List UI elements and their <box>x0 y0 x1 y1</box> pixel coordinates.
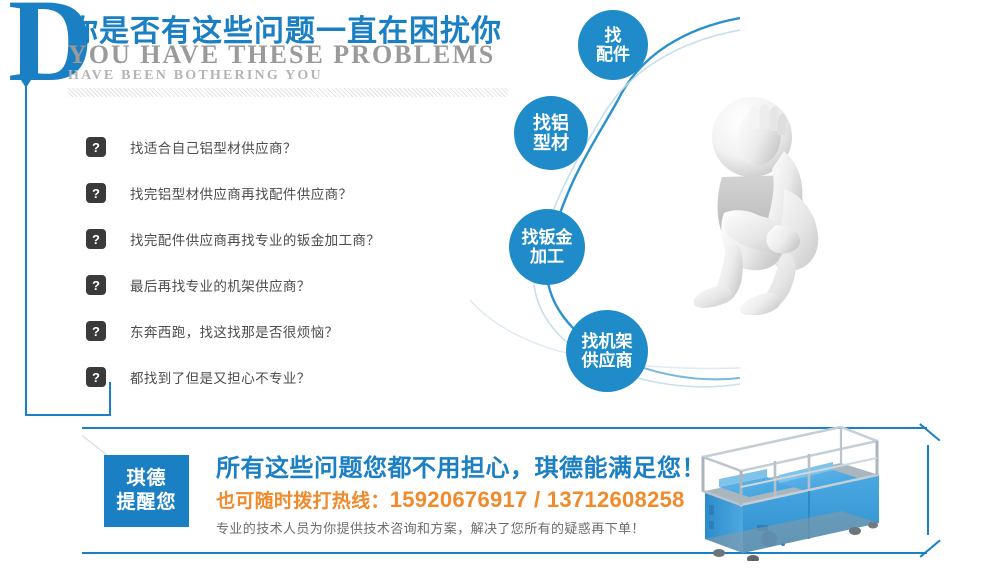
subtitle-english-line2: HAVE BEEN BOTHERING YOU <box>68 68 323 84</box>
flow-node-label: 找配件 <box>596 26 630 64</box>
list-item: ?都找到了但是又担心不专业？ <box>86 354 486 400</box>
flow-node-label-line2: 型材 <box>533 133 569 153</box>
banner-corner-left-slash <box>82 435 109 457</box>
problem-text: 找完配件供应商再找专业的钣金加工商？ <box>130 229 380 249</box>
question-mark-icon: ? <box>86 183 106 203</box>
bracket-vertical-line <box>25 86 27 416</box>
flow-node-2: 找铝型材 <box>514 96 588 170</box>
flow-node-3: 找钣金加工 <box>509 209 585 285</box>
list-item: ?最后再找专业的机架供应商？ <box>86 262 486 308</box>
hotline-label: 也可随时拨打热线： <box>216 491 390 512</box>
product-machine-image <box>683 413 918 561</box>
question-mark-icon: ? <box>86 137 106 157</box>
flow-node-label-line1: 找机架 <box>582 332 633 351</box>
flow-node-label-line2: 供应商 <box>582 351 633 370</box>
problem-text: 都找到了但是又担心不专业？ <box>130 367 311 387</box>
banner-border-right <box>927 445 929 535</box>
flow-node-label: 找钣金加工 <box>522 228 573 266</box>
banner-headline: 所有这些问题您都不用担心，琪德能满足您！ <box>216 448 706 483</box>
flow-node-label-line1: 找 <box>596 26 630 45</box>
flow-node-label-line2: 配件 <box>596 45 630 64</box>
flow-node-label-line1: 找铝 <box>533 113 569 133</box>
problem-text: 最后再找专业的机架供应商？ <box>130 275 311 295</box>
banner-corner-top-right <box>920 423 941 441</box>
bracket-horizontal-line <box>25 414 111 416</box>
hotline-numbers: 15920676917 / 13712608258 <box>390 487 685 512</box>
list-item: ?找完铝型材供应商再找配件供应商？ <box>86 170 486 216</box>
problem-list: ?找适合自己铝型材供应商？?找完铝型材供应商再找配件供应商？?找完配件供应商再找… <box>86 124 486 400</box>
list-item: ?东奔西跑，找这找那是否很烦恼？ <box>86 308 486 354</box>
flow-node-1: 找配件 <box>578 10 648 80</box>
list-item: ?找适合自己铝型材供应商？ <box>86 124 486 170</box>
problem-text: 东奔西跑，找这找那是否很烦恼？ <box>130 321 339 341</box>
problem-text: 找完铝型材供应商再找配件供应商？ <box>130 183 352 203</box>
promo-graphic: D 你是否有这些问题一直在困扰你 YOU HAVE THESE PROBLEMS… <box>0 0 982 579</box>
banner-hotline: 也可随时拨打热线：15920676917 / 13712608258 <box>216 486 685 513</box>
flow-node-label-line2: 加工 <box>522 247 573 266</box>
subtitle-english-line1: YOU HAVE THESE PROBLEMS <box>68 40 495 70</box>
question-mark-icon: ? <box>86 229 106 249</box>
brand-reminder-badge: 琪德 提醒您 <box>104 455 189 527</box>
flow-node-label: 找机架供应商 <box>582 332 633 370</box>
list-item: ?找完配件供应商再找专业的钣金加工商？ <box>86 216 486 262</box>
flow-node-4: 找机架供应商 <box>566 310 648 392</box>
banner-subtext: 专业的技术人员为你提供技术咨询和方案，解决了您所有的疑惑再下单！ <box>216 518 645 537</box>
question-mark-icon: ? <box>86 275 106 295</box>
question-mark-icon: ? <box>86 367 106 387</box>
frustrated-person-illustration <box>680 85 865 315</box>
question-mark-icon: ? <box>86 321 106 341</box>
flow-node-label-line1: 找钣金 <box>522 228 573 247</box>
flow-node-label: 找铝型材 <box>533 113 569 153</box>
badge-line-2: 提醒您 <box>116 491 176 515</box>
problem-text: 找适合自己铝型材供应商？ <box>130 137 297 157</box>
badge-line-1: 琪德 <box>126 467 166 491</box>
banner-corner-bottom-right <box>920 539 941 557</box>
